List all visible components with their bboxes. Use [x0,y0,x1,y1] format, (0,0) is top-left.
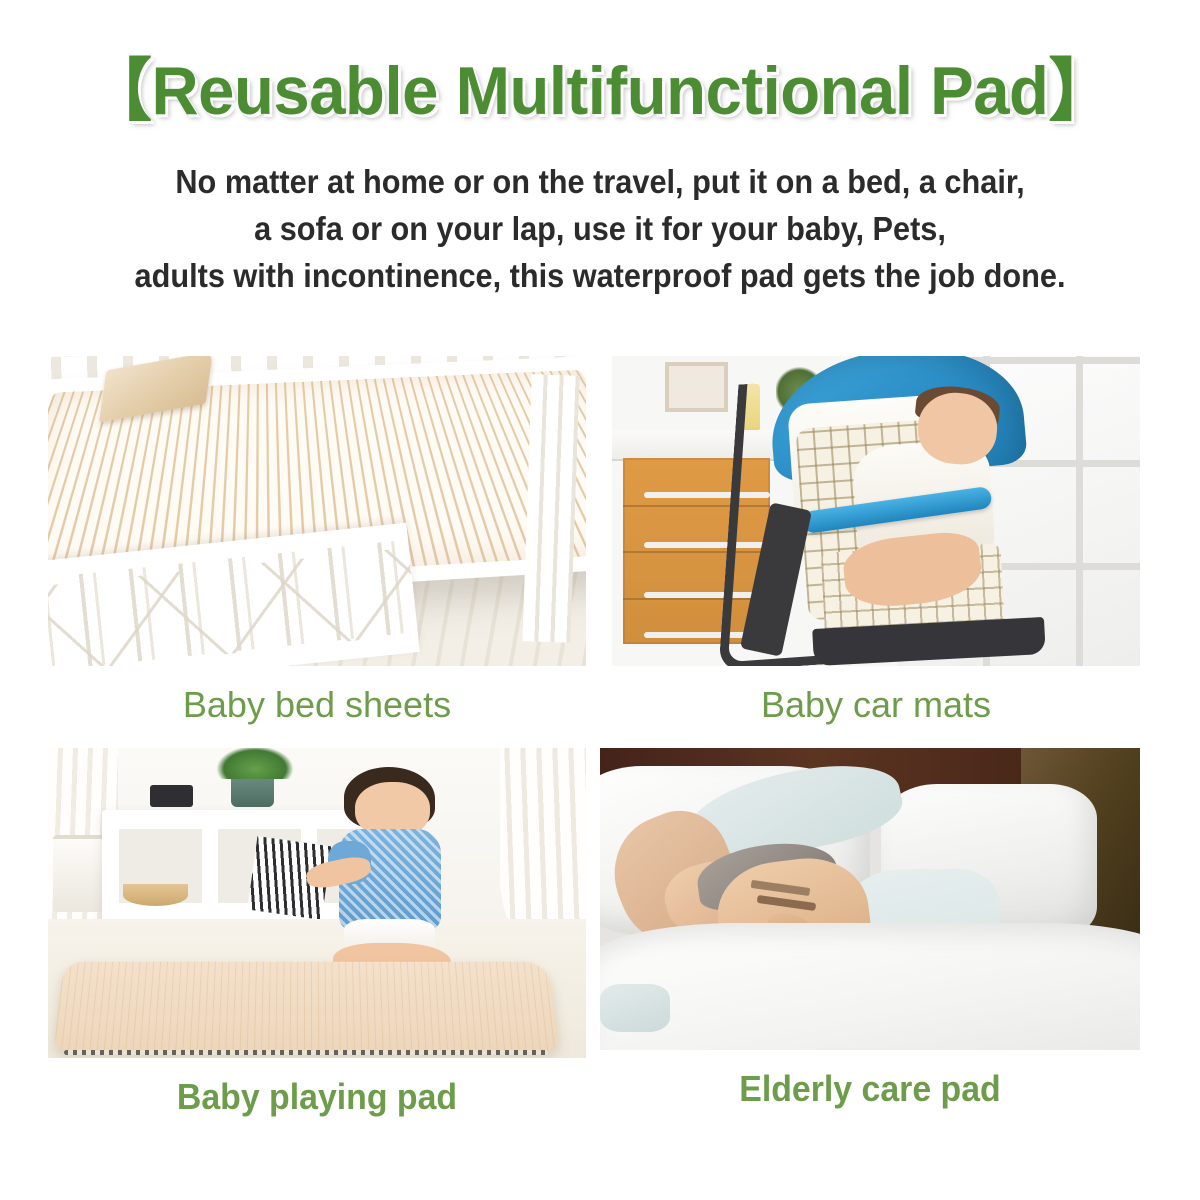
product-infographic: 【Reusable Multifunctional Pad】 No matter… [0,0,1200,1200]
beige-playing-pad [53,962,559,1051]
description-line-1: No matter at home or on the travel, put … [64,158,1135,205]
woven-bowl [123,884,188,906]
description-line-3: adults with incontinence, this waterproo… [64,252,1135,299]
plant-leaves [215,748,296,779]
use-case-card-baby-car-mats: Baby car mats [612,356,1140,726]
use-case-card-baby-bed-sheets: Baby bed sheets [48,356,586,726]
photo-baby-car-mats [612,356,1140,666]
use-case-card-baby-playing-pad: Baby playing pad [48,748,586,1118]
curtain-right [500,748,586,940]
crib-side-post [522,374,580,642]
pad-edge-trim [64,1050,548,1055]
page-description: No matter at home or on the travel, put … [64,158,1135,299]
caption-baby-bed-sheets: Baby bed sheets [48,684,586,726]
caption-baby-playing-pad: Baby playing pad [64,1076,570,1118]
white-blanket [600,923,1140,1050]
photo-baby-playing-pad [48,748,586,1058]
page-title: 【Reusable Multifunctional Pad】 [24,52,1176,130]
photo-baby-bed-sheets [48,356,586,666]
picture-frame [665,362,728,412]
use-case-grid: Baby bed sheets [0,356,1200,1156]
caption-baby-car-mats: Baby car mats [612,684,1140,726]
caption-elderly-care-pad: Elderly care pad [616,1068,1124,1110]
description-line-2: a sofa or on your lap, use it for your b… [64,205,1135,252]
toy-on-shelf [150,785,193,807]
pajama-cuff [600,984,670,1032]
photo-elderly-care-pad [600,748,1140,1050]
use-case-card-elderly-care-pad: Elderly care pad [600,748,1140,1110]
